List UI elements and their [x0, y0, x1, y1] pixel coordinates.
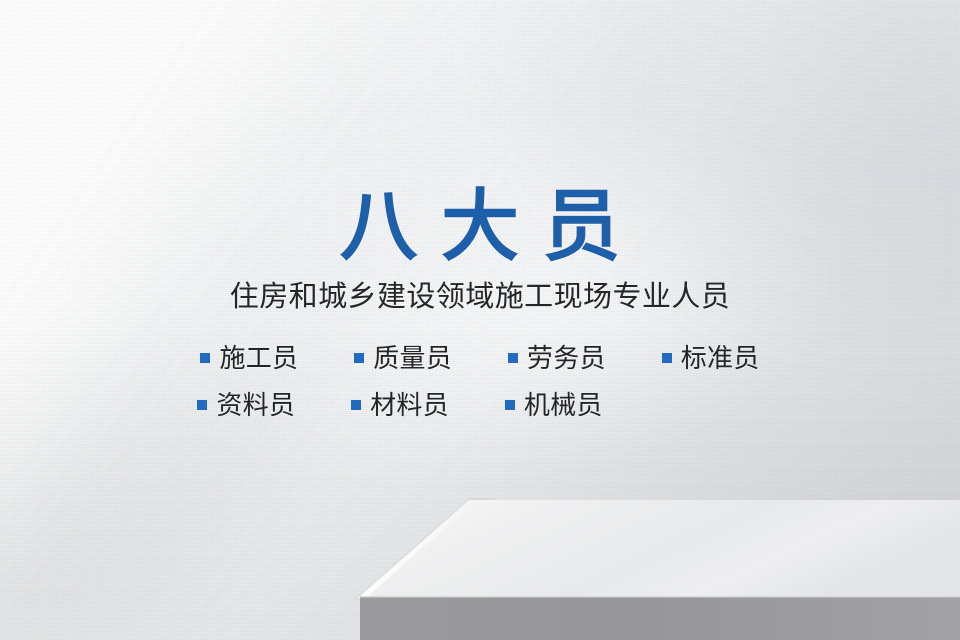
role-tag-list: 施工员 质量员 劳务员 标准员 资料员 — [0, 338, 960, 422]
poster-content: 八大员 住房和城乡建设领域施工现场专业人员 施工员 质量员 劳务员 — [0, 188, 960, 422]
role-tag-jixieyuan[interactable]: 机械员 — [505, 385, 603, 422]
role-tag-ziliaoyuan[interactable]: 资料员 — [197, 385, 295, 422]
page-title: 八大员 — [0, 188, 960, 266]
square-bullet-icon — [508, 353, 518, 363]
role-tag-label: 劳务员 — [527, 338, 606, 375]
role-tag-cailiaoyuan[interactable]: 材料员 — [351, 385, 449, 422]
role-tag-label: 资料员 — [216, 385, 295, 422]
role-tag-label: 质量员 — [373, 338, 452, 375]
role-tag-biaozhunyuan[interactable]: 标准员 — [662, 338, 760, 375]
role-tag-laowuyuan[interactable]: 劳务员 — [508, 338, 606, 375]
poster-canvas: 八大员 住房和城乡建设领域施工现场专业人员 施工员 质量员 劳务员 — [0, 0, 960, 640]
role-tag-label: 施工员 — [219, 338, 298, 375]
square-bullet-icon — [200, 353, 210, 363]
role-tag-label: 材料员 — [370, 385, 449, 422]
role-tag-shigongyuan[interactable]: 施工员 — [200, 338, 298, 375]
role-tag-label: 标准员 — [681, 338, 760, 375]
role-tag-row: 施工员 质量员 劳务员 标准员 — [0, 338, 960, 375]
square-bullet-icon — [354, 353, 364, 363]
square-bullet-icon — [505, 400, 515, 410]
square-bullet-icon — [351, 400, 361, 410]
page-subtitle: 住房和城乡建设领域施工现场专业人员 — [0, 278, 960, 314]
role-tag-zhiliangyuan[interactable]: 质量员 — [354, 338, 452, 375]
square-bullet-icon — [662, 353, 672, 363]
role-tag-row: 资料员 材料员 机械员 — [0, 385, 960, 422]
square-bullet-icon — [197, 400, 207, 410]
role-tag-label: 机械员 — [524, 385, 603, 422]
